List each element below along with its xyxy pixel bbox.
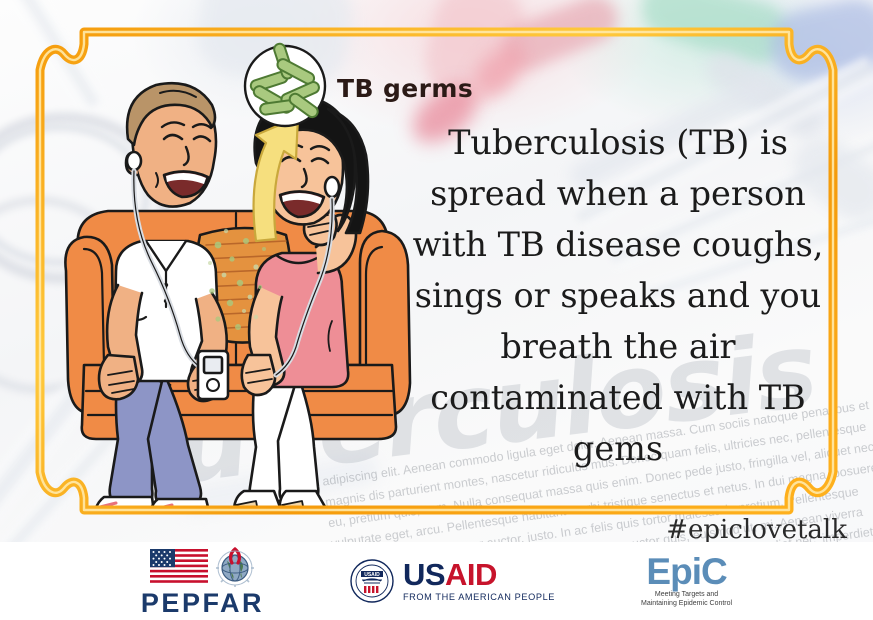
epic-c-text: C: [701, 551, 727, 592]
logo-usaid: USAID USAID FROM THE AMERICAN PEOPLE: [350, 559, 555, 603]
tb-germ-cluster-icon: [236, 42, 334, 130]
epic-tagline-line1: Meeting Targets and: [641, 591, 732, 600]
usaid-wordmark: USAID: [403, 560, 555, 589]
usaid-seal-icon: USAID: [350, 559, 394, 603]
usaid-aid-text: AID: [445, 557, 497, 592]
epic-ep-text: Ep: [646, 551, 691, 592]
usaid-tagline: FROM THE AMERICAN PEOPLE: [403, 592, 555, 602]
epic-tagline: Meeting Targets and Maintaining Epidemic…: [641, 591, 732, 608]
tb-germs-label: TB germs: [337, 74, 473, 103]
us-flag-icon: [150, 549, 208, 583]
usaid-us-text: US: [403, 557, 445, 592]
epic-tagline-line2: Maintaining Epidemic Control: [641, 600, 732, 609]
logo-epic: EpiC Meeting Targets and Maintaining Epi…: [641, 553, 732, 608]
poster-root: Tuberculosis adipiscing elit. Aenean com…: [0, 0, 873, 620]
globe-ribbon-icon: [215, 545, 255, 587]
pepfar-wordmark: PEPFAR: [141, 590, 264, 617]
logo-pepfar: PEPFAR: [141, 545, 264, 617]
logo-strip: PEPFAR USAID USAID FROM THE AMERIC: [0, 542, 873, 620]
epic-i-text: i: [692, 551, 701, 592]
epic-wordmark: EpiC: [646, 553, 726, 590]
svg-text:USAID: USAID: [364, 572, 380, 578]
main-message-text: Tuberculosis (TB) is spread when a perso…: [408, 117, 828, 474]
campaign-hashtag: #epiclovetalk: [666, 515, 847, 545]
